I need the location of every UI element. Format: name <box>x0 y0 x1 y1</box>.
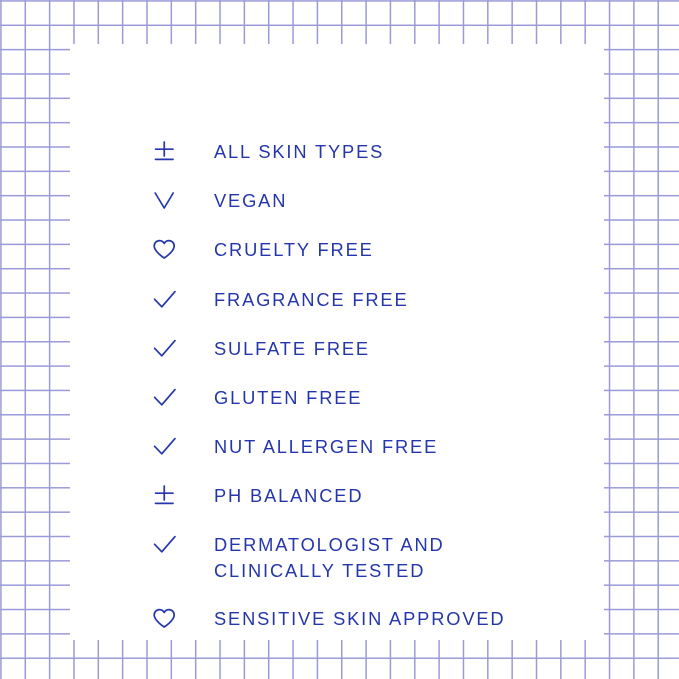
white-card-panel: ALL SKIN TYPESVEGANCRUELTY FREEFRAGRANCE… <box>70 44 604 640</box>
heart-icon <box>152 606 186 632</box>
claims-card-canvas: ALL SKIN TYPESVEGANCRUELTY FREEFRAGRANCE… <box>0 0 679 679</box>
claim-label: DERMATOLOGIST AND CLINICALLY TESTED <box>214 532 445 584</box>
claim-label: SULFATE FREE <box>214 336 370 362</box>
claim-label: SENSITIVE SKIN APPROVED <box>214 606 505 632</box>
claim-label: CRUELTY FREE <box>214 237 374 263</box>
v-check-icon <box>152 188 186 214</box>
heart-icon <box>152 237 186 263</box>
claim-label: PH BALANCED <box>214 483 363 509</box>
checkmark-icon <box>152 532 186 558</box>
claim-label: VEGAN <box>214 188 287 214</box>
plus-minus-icon <box>152 139 186 165</box>
claim-label: NUT ALLERGEN FREE <box>214 434 438 460</box>
checkmark-icon <box>152 434 186 460</box>
checkmark-icon <box>152 336 186 362</box>
checkmark-icon <box>152 287 186 313</box>
checkmark-icon <box>152 385 186 411</box>
claim-label: GLUTEN FREE <box>214 385 362 411</box>
claim-label: FRAGRANCE FREE <box>214 287 409 313</box>
plus-minus-icon <box>152 483 186 509</box>
claim-label: ALL SKIN TYPES <box>214 139 384 165</box>
